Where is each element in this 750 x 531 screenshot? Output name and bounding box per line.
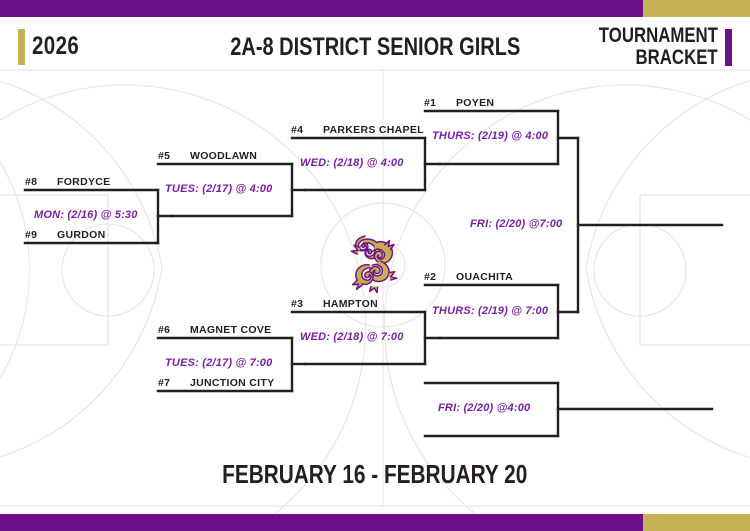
slot-poyen[interactable]: #1POYEN	[424, 97, 494, 109]
top-bar-purple-segment	[0, 0, 643, 17]
seed-label: #7	[158, 377, 180, 389]
team-name: GURDON	[57, 229, 105, 241]
tournament-date-range-text: FEBRUARY 16 - FEBRUARY 20	[222, 459, 527, 490]
bottom-color-bar	[0, 514, 750, 531]
team-name: HAMPTON	[323, 298, 378, 310]
team-name: POYEN	[456, 97, 494, 109]
slot-junction-city[interactable]: #7JUNCTION CITY	[158, 377, 274, 389]
game-time-championship[interactable]: FRI: (2/20) @7:00	[470, 218, 562, 230]
game-time-4-vs-winner[interactable]: WED: (2/18) @ 4:00	[300, 157, 404, 169]
slot-woodlawn[interactable]: #5WOODLAWN	[158, 150, 257, 162]
bottom-bar-gold-segment	[643, 514, 750, 531]
heading-accent-bar	[725, 29, 732, 66]
game-time-2-vs-winner[interactable]: THURS: (2/19) @ 7:00	[432, 305, 548, 317]
tournament-bracket-page: 2026 2A-8 DISTRICT SENIOR GIRLS TOURNAME…	[0, 0, 750, 531]
slot-gurdon[interactable]: #9GURDON	[25, 229, 105, 241]
team-name: PARKERS CHAPEL	[323, 124, 424, 136]
bottom-bar-purple-segment	[0, 514, 643, 531]
team-name: FORDYCE	[57, 176, 110, 188]
game-time-8v9[interactable]: MON: (2/16) @ 5:30	[34, 209, 138, 221]
team-name: WOODLAWN	[190, 150, 257, 162]
tournament-date-range: FEBRUARY 16 - FEBRUARY 20	[0, 459, 750, 490]
seed-label: #2	[424, 271, 446, 283]
seed-label: #5	[158, 150, 180, 162]
seed-label: #6	[158, 324, 180, 336]
top-color-bar	[0, 0, 750, 17]
game-time-third-place[interactable]: FRI: (2/20) @4:00	[438, 402, 530, 414]
slot-magnet-cove[interactable]: #6MAGNET COVE	[158, 324, 271, 336]
seed-label: #1	[424, 97, 446, 109]
header: 2026 2A-8 DISTRICT SENIOR GIRLS TOURNAME…	[0, 17, 750, 70]
slot-parkers-chapel[interactable]: #4PARKERS CHAPEL	[291, 124, 424, 136]
game-time-3-vs-winner[interactable]: WED: (2/18) @ 7:00	[300, 331, 404, 343]
bracket-heading-line1: TOURNAMENT	[599, 25, 718, 47]
slot-ouachita[interactable]: #2OUACHITA	[424, 271, 513, 283]
game-time-6v7[interactable]: TUES: (2/17) @ 7:00	[165, 357, 272, 369]
seed-label: #9	[25, 229, 47, 241]
page-title-text: 2A-8 DISTRICT SENIOR GIRLS	[230, 33, 520, 62]
top-bar-gold-segment	[643, 0, 750, 17]
slot-hampton[interactable]: #3HAMPTON	[291, 298, 378, 310]
bracket-heading: TOURNAMENT BRACKET	[538, 25, 718, 69]
team-name: OUACHITA	[456, 271, 513, 283]
slot-fordyce[interactable]: #8FORDYCE	[25, 176, 110, 188]
bracket-heading-line2: BRACKET	[636, 47, 718, 69]
seed-label: #4	[291, 124, 313, 136]
game-time-5-vs-winner[interactable]: TUES: (2/17) @ 4:00	[165, 183, 272, 195]
seed-label: #8	[25, 176, 47, 188]
team-name: JUNCTION CITY	[190, 377, 274, 389]
game-time-1-vs-winner[interactable]: THURS: (2/19) @ 4:00	[432, 130, 548, 142]
dragon-logo-icon	[340, 228, 410, 294]
team-name: MAGNET COVE	[190, 324, 271, 336]
seed-label: #3	[291, 298, 313, 310]
